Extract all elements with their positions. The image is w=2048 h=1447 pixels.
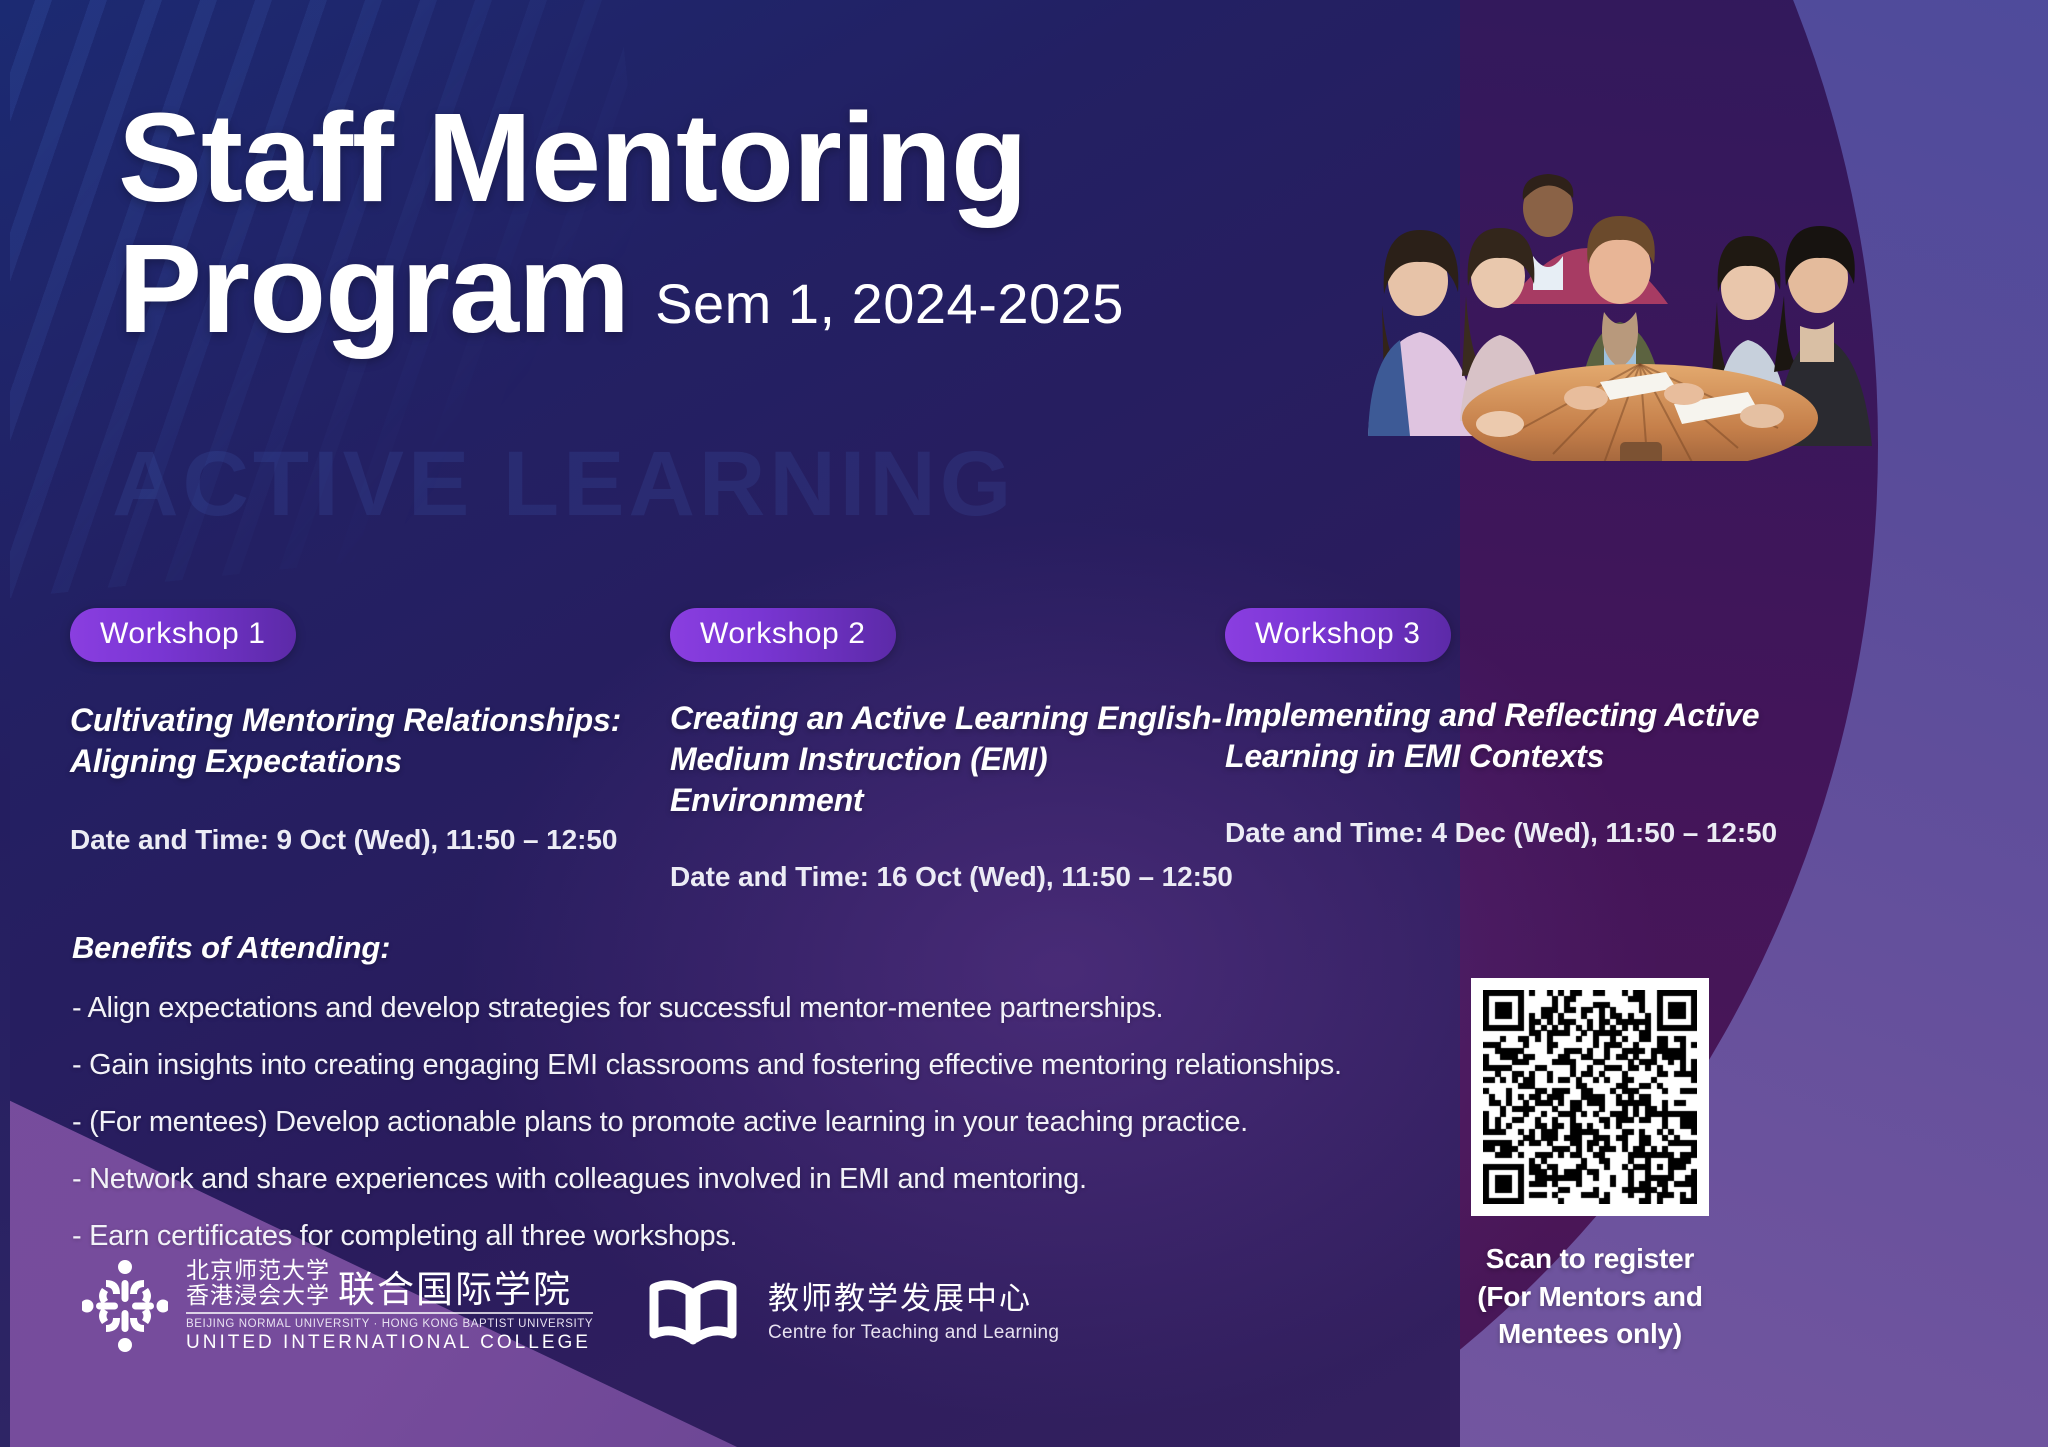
workshop-2-badge: Workshop 2	[670, 608, 896, 662]
ctl-cn-name: 教师教学发展中心	[768, 1282, 1059, 1316]
uic-divider	[186, 1312, 593, 1314]
qr-registration-block: Scan to register (For Mentors and Mentee…	[1465, 978, 1715, 1353]
page-title-line-2-row: Program Sem 1, 2024-2025	[118, 223, 1358, 354]
benefit-item: - Earn certificates for completing all t…	[72, 1222, 1372, 1251]
workshop-1-date: Date and Time: 9 Oct (Wed), 11:50 – 12:5…	[70, 824, 670, 856]
uic-cn-small-lines: 北京师范大学 香港浸会大学	[186, 1258, 330, 1308]
benefit-item: - Align expectations and develop strateg…	[72, 994, 1372, 1023]
workshop-1-title: Cultivating Mentoring Relationships: Ali…	[70, 700, 670, 782]
workshop-3-badge: Workshop 3	[1225, 608, 1451, 662]
open-book-mark-icon	[640, 1276, 746, 1350]
workshop-3-date: Date and Time: 4 Dec (Wed), 11:50 – 12:5…	[1225, 817, 1785, 849]
ctl-logo-text: 教师教学发展中心 Centre for Teaching and Learnin…	[768, 1282, 1059, 1343]
qr-code-frame	[1471, 978, 1709, 1216]
watermark-active-learning: ACTIVE LEARNING	[112, 432, 1015, 537]
benefits-section: Benefits of Attending: - Align expectati…	[72, 930, 1372, 1251]
workshop-card-2: Workshop 2 Creating an Active Learning E…	[670, 608, 1225, 893]
qr-caption-line-3: Mentees only)	[1465, 1315, 1715, 1353]
qr-caption-line-2: (For Mentors and	[1465, 1278, 1715, 1316]
uic-en-line-1: BEIJING NORMAL UNIVERSITY · HONG KONG BA…	[186, 1318, 593, 1330]
qr-caption: Scan to register (For Mentors and Mentee…	[1465, 1240, 1715, 1353]
person-left-1	[1368, 230, 1476, 436]
logo-uic: 北京师范大学 香港浸会大学 联合国际学院 BEIJING NORMAL UNIV…	[82, 1258, 593, 1354]
semester-subtitle: Sem 1, 2024-2025	[655, 271, 1124, 354]
workshop-2-date: Date and Time: 16 Oct (Wed), 11:50 – 12:…	[670, 861, 1225, 893]
uic-logo-text: 北京师范大学 香港浸会大学 联合国际学院 BEIJING NORMAL UNIV…	[186, 1258, 593, 1354]
benefit-item: - Gain insights into creating engaging E…	[72, 1051, 1372, 1080]
workshop-2-title: Creating an Active Learning English-Medi…	[670, 698, 1225, 821]
uic-cn-line-2: 香港浸会大学	[186, 1283, 330, 1308]
workshop-card-3: Workshop 3 Implementing and Reflecting A…	[1225, 608, 1785, 893]
benefit-item: - (For mentees) Develop actionable plans…	[72, 1108, 1372, 1137]
students-illustration	[1348, 136, 1928, 461]
page-title-line-1: Staff Mentoring	[118, 92, 1358, 223]
uic-cn-line-1: 北京师范大学	[186, 1258, 330, 1283]
uic-snowflake-mark-icon	[82, 1260, 168, 1352]
poster-header: Staff Mentoring Program Sem 1, 2024-2025	[118, 92, 1358, 354]
qr-caption-line-1: Scan to register	[1465, 1240, 1715, 1278]
ctl-en-name: Centre for Teaching and Learning	[768, 1322, 1059, 1344]
poster-root: ACTIVE LEARNING Staff Mentoring Program …	[0, 0, 2048, 1447]
workshop-3-title: Implementing and Reflecting Active Learn…	[1225, 695, 1785, 777]
page-title-line-2: Program	[118, 223, 629, 354]
left-edge-bar	[0, 0, 10, 1447]
uic-en-line-2: UNITED INTERNATIONAL COLLEGE	[186, 1332, 593, 1354]
benefit-item: - Network and share experiences with col…	[72, 1165, 1372, 1194]
workshops-section: Workshop 1 Cultivating Mentoring Relatio…	[70, 608, 1990, 893]
workshop-card-1: Workshop 1 Cultivating Mentoring Relatio…	[70, 608, 670, 893]
logo-ctl: 教师教学发展中心 Centre for Teaching and Learnin…	[640, 1276, 1059, 1350]
workshop-1-badge: Workshop 1	[70, 608, 296, 662]
benefits-heading: Benefits of Attending:	[72, 930, 1372, 966]
qr-code-icon[interactable]	[1483, 990, 1697, 1204]
hero-photo-students-discussion	[1348, 136, 1928, 461]
uic-cn-big: 联合国际学院	[338, 1271, 572, 1308]
